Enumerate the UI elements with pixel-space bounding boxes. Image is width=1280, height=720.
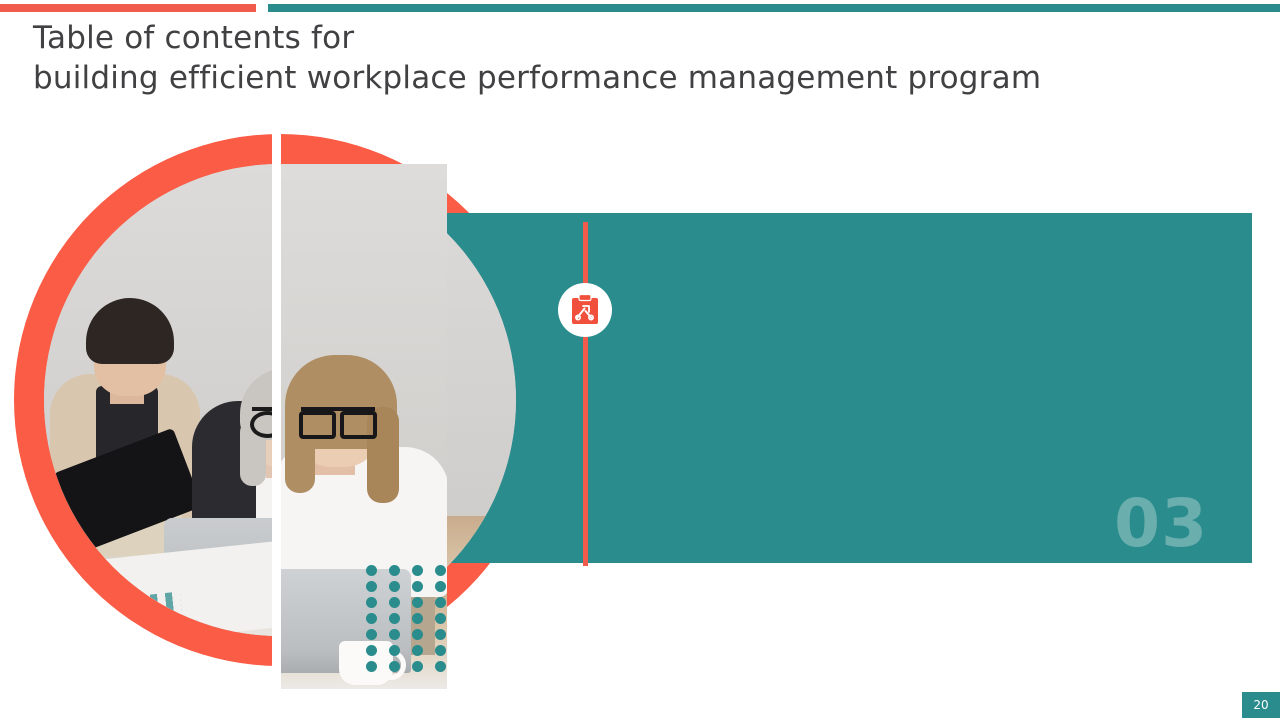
grid-dot xyxy=(366,613,377,624)
grid-dot xyxy=(389,629,400,640)
grid-dot xyxy=(366,597,377,608)
panel-coral-divider xyxy=(583,222,588,566)
page-title-line-1: Table of contents for xyxy=(33,20,354,56)
grid-dot xyxy=(389,613,400,624)
teal-dot-grid xyxy=(360,562,452,674)
clipboard-strategy-icon-badge xyxy=(558,283,612,337)
grid-dot xyxy=(412,645,423,656)
grid-dot xyxy=(412,629,423,640)
grid-dot xyxy=(435,629,446,640)
photo-split-divider xyxy=(272,128,281,674)
grid-dot xyxy=(366,629,377,640)
grid-dot xyxy=(435,565,446,576)
grid-dot xyxy=(412,661,423,672)
accent-bar-teal xyxy=(268,4,1280,12)
slide-root: Table of contents for building efficient… xyxy=(0,0,1280,720)
grid-dot xyxy=(366,645,377,656)
circular-image-composition xyxy=(14,134,546,666)
grid-dot xyxy=(366,581,377,592)
content-panel: 03 xyxy=(420,213,1252,563)
photo-person-glasses xyxy=(301,407,375,431)
grid-dot xyxy=(435,613,446,624)
grid-dot xyxy=(412,597,423,608)
grid-dot xyxy=(389,661,400,672)
page-title: Table of contents for building efficient… xyxy=(33,18,1173,98)
section-number: 03 xyxy=(1114,491,1208,557)
grid-dot xyxy=(412,581,423,592)
page-number-badge: 20 xyxy=(1242,692,1280,718)
grid-dot xyxy=(412,565,423,576)
grid-dot xyxy=(389,581,400,592)
grid-dot xyxy=(435,581,446,592)
clipboard-strategy-icon xyxy=(570,294,600,326)
grid-dot xyxy=(435,597,446,608)
page-title-line-2: building efficient workplace performance… xyxy=(33,58,1173,98)
grid-dot xyxy=(389,565,400,576)
accent-bar-coral xyxy=(0,4,256,12)
grid-dot xyxy=(389,597,400,608)
grid-dot xyxy=(366,661,377,672)
grid-dot xyxy=(435,645,446,656)
grid-dot xyxy=(435,661,446,672)
grid-dot xyxy=(389,645,400,656)
grid-dot xyxy=(412,613,423,624)
grid-dot xyxy=(366,565,377,576)
